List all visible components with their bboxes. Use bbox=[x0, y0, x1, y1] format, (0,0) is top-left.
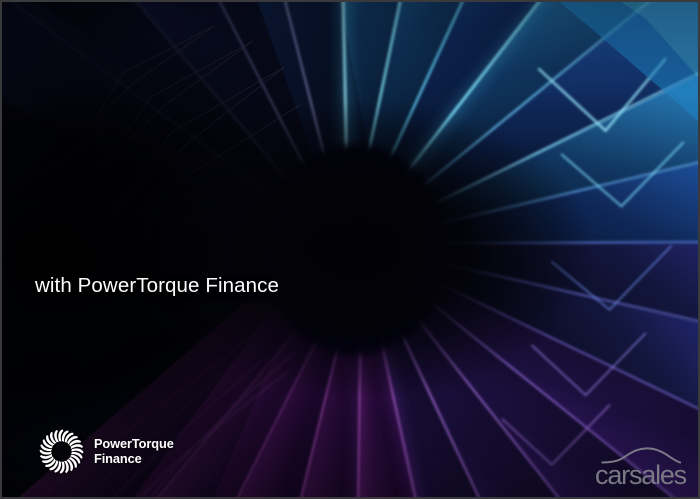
carsales-wordmark: carsales bbox=[595, 462, 686, 489]
subheadline: with PowerTorque Finance bbox=[35, 274, 455, 298]
carsales-logo[interactable]: carsales bbox=[595, 445, 686, 489]
powertorque-wordmark: PowerTorque Finance bbox=[94, 437, 174, 466]
powertorque-finance-logo[interactable]: PowerTorque Finance bbox=[38, 428, 174, 475]
ad-copy-block: GET BEHIND THE WHEEL QUICKER with PowerT… bbox=[35, 180, 455, 298]
brand-name-line-1: PowerTorque bbox=[94, 437, 174, 451]
headline-line-2: WHEEL QUICKER bbox=[35, 219, 455, 260]
brand-name-line-2: Finance bbox=[94, 452, 174, 466]
advertisement-banner[interactable]: GET BEHIND THE WHEEL QUICKER with PowerT… bbox=[0, 0, 700, 499]
powertorque-turbine-mark-icon bbox=[38, 428, 85, 475]
